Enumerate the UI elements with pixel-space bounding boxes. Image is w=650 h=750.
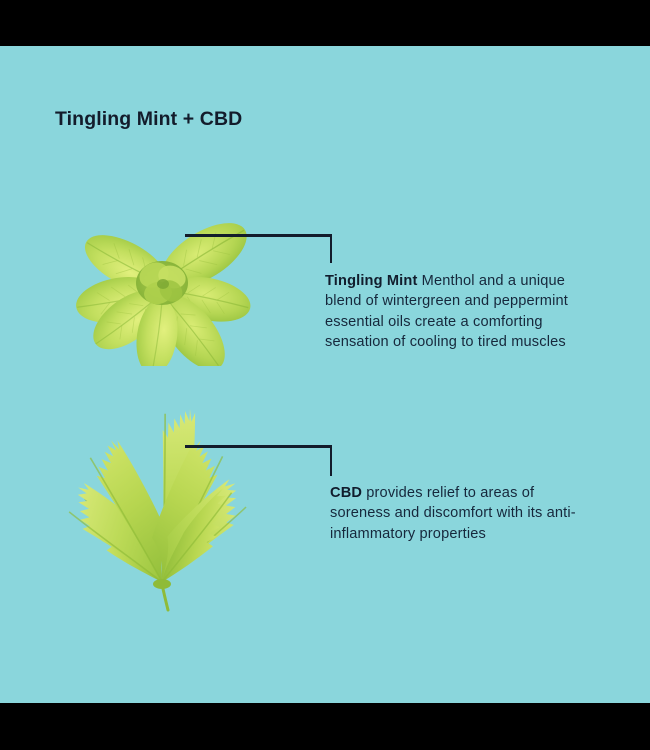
mint-plant-illustration [58,201,273,366]
page-title: Tingling Mint + CBD [55,108,242,131]
feature-lead-in-mint: Tingling Mint [325,273,417,289]
image-frame: Tingling Mint + CBD [0,0,650,750]
connector-horizontal-segment [185,234,332,237]
feature-description-cbd: CBD provides relief to areas of soreness… [330,483,588,544]
infographic-canvas: Tingling Mint + CBD [0,46,650,703]
cannabis-leaflet-group [57,409,260,610]
feature-description-mint: Tingling Mint Menthol and a unique blend… [325,271,590,353]
cannabis-leaf-illustration [40,386,285,631]
letterbox-bar-bottom [0,703,650,750]
feature-body-cbd: provides relief to areas of soreness and… [330,485,576,542]
connector-vertical-segment [330,445,333,476]
connector-horizontal-segment [185,445,332,448]
connector-vertical-segment [330,234,333,263]
letterbox-bar-top [0,0,650,46]
feature-lead-in-cbd: CBD [330,485,362,501]
